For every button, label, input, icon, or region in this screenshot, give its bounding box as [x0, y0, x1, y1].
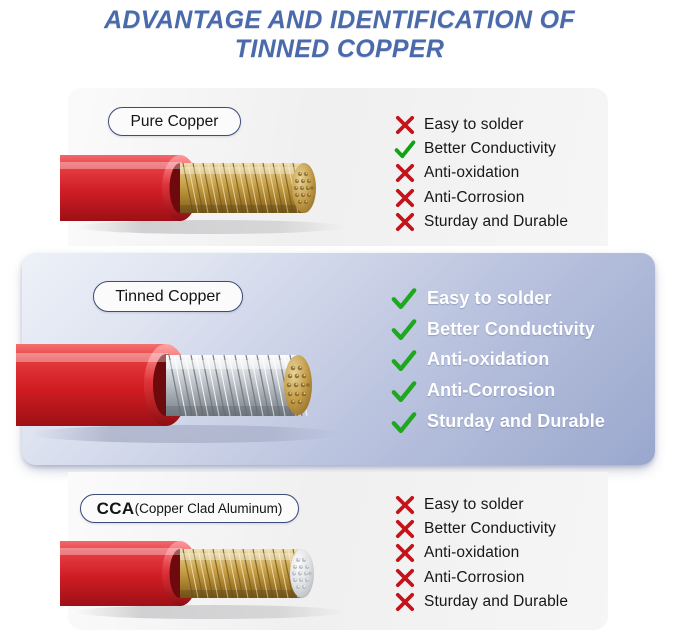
list-item: Easy to solder	[390, 283, 605, 314]
check-icon	[390, 348, 418, 372]
label-pill-pure-copper: Pure Copper	[108, 107, 241, 136]
cross-icon	[393, 543, 417, 563]
page-title-line-2: TINNED COPPER	[0, 35, 679, 64]
cross-icon	[393, 592, 417, 612]
cross-icon	[393, 212, 417, 232]
list-item: Anti-Corrosion	[390, 375, 605, 406]
pill-label-text: Tinned Copper	[115, 288, 220, 306]
feature-label: Better Conductivity	[427, 319, 595, 340]
list-item: Easy to solder	[393, 493, 568, 517]
list-item: Sturday and Durable	[390, 406, 605, 437]
check-icon	[393, 139, 417, 159]
check-icon	[390, 317, 418, 341]
feature-label: Anti-oxidation	[427, 349, 549, 370]
page-title: ADVANTAGE AND IDENTIFICATION OF TINNED C…	[0, 6, 679, 64]
feature-label: Easy to solder	[424, 116, 524, 134]
feature-label: Anti-Corrosion	[427, 380, 555, 401]
list-item: Easy to solder	[393, 113, 568, 137]
list-item: Anti-oxidation	[390, 345, 605, 376]
list-item: Anti-Corrosion	[393, 566, 568, 590]
feature-label: Sturday and Durable	[424, 593, 568, 611]
list-item: Better Conductivity	[393, 137, 568, 161]
pill-label-text: Pure Copper	[131, 113, 219, 131]
feature-label: Better Conductivity	[424, 520, 556, 538]
label-pill-tinned-copper: Tinned Copper	[93, 281, 243, 312]
check-icon	[390, 410, 418, 434]
cross-icon	[393, 188, 417, 208]
feature-list-tinned-copper: Easy to solder Better Conductivity Anti-…	[390, 283, 605, 437]
pill-label-full: (Copper Clad Aluminum)	[135, 501, 283, 516]
cross-icon	[393, 163, 417, 183]
label-pill-cca: CCA (Copper Clad Aluminum)	[80, 494, 299, 523]
feature-label: Anti-Corrosion	[424, 569, 524, 587]
list-item: Anti-oxidation	[393, 161, 568, 185]
feature-label: Sturday and Durable	[427, 411, 605, 432]
feature-label: Sturday and Durable	[424, 213, 568, 231]
pure-copper-wire-illustration	[60, 143, 350, 238]
list-item: Sturday and Durable	[393, 210, 568, 234]
list-item: Sturday and Durable	[393, 590, 568, 614]
list-item: Anti-Corrosion	[393, 186, 568, 210]
feature-label: Easy to solder	[427, 288, 551, 309]
cca-wire-illustration	[60, 530, 350, 622]
feature-label: Anti-oxidation	[424, 544, 519, 562]
feature-label: Easy to solder	[424, 496, 524, 514]
feature-label: Anti-oxidation	[424, 164, 519, 182]
check-icon	[390, 286, 418, 310]
list-item: Anti-oxidation	[393, 541, 568, 565]
page-title-line-1: ADVANTAGE AND IDENTIFICATION OF	[0, 6, 679, 35]
cross-icon	[393, 568, 417, 588]
check-icon	[390, 379, 418, 403]
list-item: Better Conductivity	[393, 517, 568, 541]
feature-list-pure-copper: Easy to solder Better Conductivity Anti-…	[393, 113, 568, 234]
cross-icon	[393, 115, 417, 135]
list-item: Better Conductivity	[390, 314, 605, 345]
cross-icon	[393, 519, 417, 539]
cross-icon	[393, 495, 417, 515]
tinned-copper-wire-illustration	[16, 330, 346, 448]
feature-label: Anti-Corrosion	[424, 189, 524, 207]
pill-label-abbr: CCA	[97, 499, 135, 519]
feature-list-cca: Easy to solder Better Conductivity Anti-…	[393, 493, 568, 614]
feature-label: Better Conductivity	[424, 140, 556, 158]
